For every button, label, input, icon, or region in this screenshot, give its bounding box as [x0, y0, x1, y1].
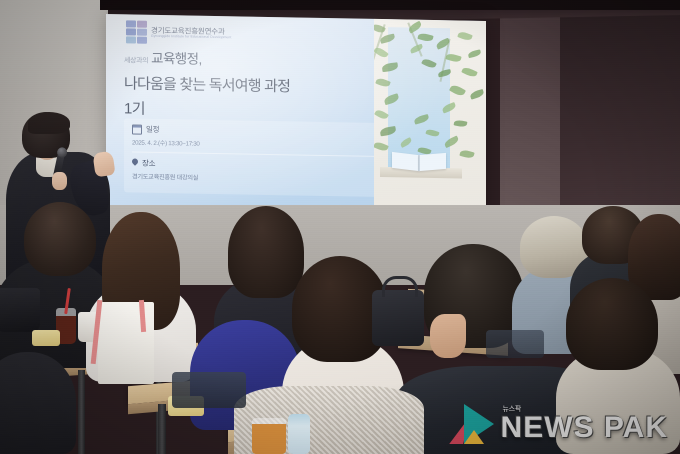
white-paper-bag: [98, 302, 154, 384]
projection-screen: 경기도교육진흥원연수과 Gyeonggido Institute for Edu…: [106, 14, 486, 235]
chair-back-right: [486, 330, 544, 358]
play-triangle-logo-icon: [452, 404, 496, 444]
iced-tea-cup: [252, 418, 286, 454]
ceiling-shadow: [100, 0, 680, 10]
black-backpack-right: [372, 290, 424, 346]
chair-back-left: [172, 372, 246, 408]
black-handbag-left: [0, 288, 40, 332]
watermark-english-text: NEWS PAK: [501, 413, 668, 443]
snack-packet-1: [32, 330, 60, 346]
news-pak-watermark: 뉴스팍 NEWS PAK: [452, 404, 668, 444]
water-bottle: [288, 414, 310, 454]
photo-scene: 경기도교육진흥원연수과 Gyeonggido Institute for Edu…: [0, 0, 680, 454]
speaker-fringe: [28, 112, 70, 134]
speaker-mic-hand: [52, 172, 67, 190]
